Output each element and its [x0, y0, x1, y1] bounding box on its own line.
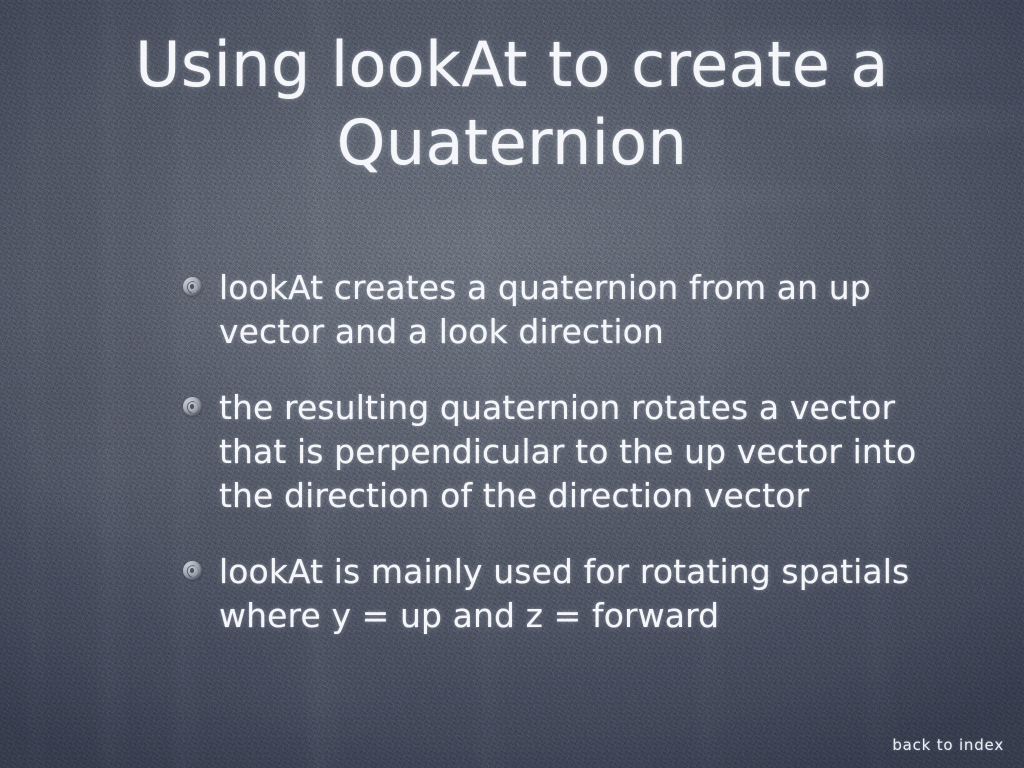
- slide-content: Using lookAt to create a Quaternion look…: [0, 0, 1024, 768]
- swirl-pebble-bullet-icon: [183, 397, 202, 416]
- swirl-pebble-bullet-icon: [183, 277, 202, 296]
- swirl-pebble-bullet-icon: [183, 561, 202, 580]
- bullet-text: the resulting quaternion rotates a vecto…: [219, 386, 943, 518]
- bullet-text: lookAt is mainly used for rotating spati…: [219, 550, 943, 638]
- slide-title: Using lookAt to create a Quaternion: [60, 26, 964, 182]
- back-to-index-link[interactable]: back to index: [888, 734, 1008, 756]
- list-item: lookAt is mainly used for rotating spati…: [183, 550, 943, 638]
- slide-canvas: Using lookAt to create a Quaternion look…: [0, 0, 1024, 768]
- list-item: the resulting quaternion rotates a vecto…: [183, 386, 943, 518]
- bullet-list: lookAt creates a quaternion from an up v…: [183, 266, 943, 638]
- list-item: lookAt creates a quaternion from an up v…: [183, 266, 943, 354]
- bullet-text: lookAt creates a quaternion from an up v…: [219, 266, 943, 354]
